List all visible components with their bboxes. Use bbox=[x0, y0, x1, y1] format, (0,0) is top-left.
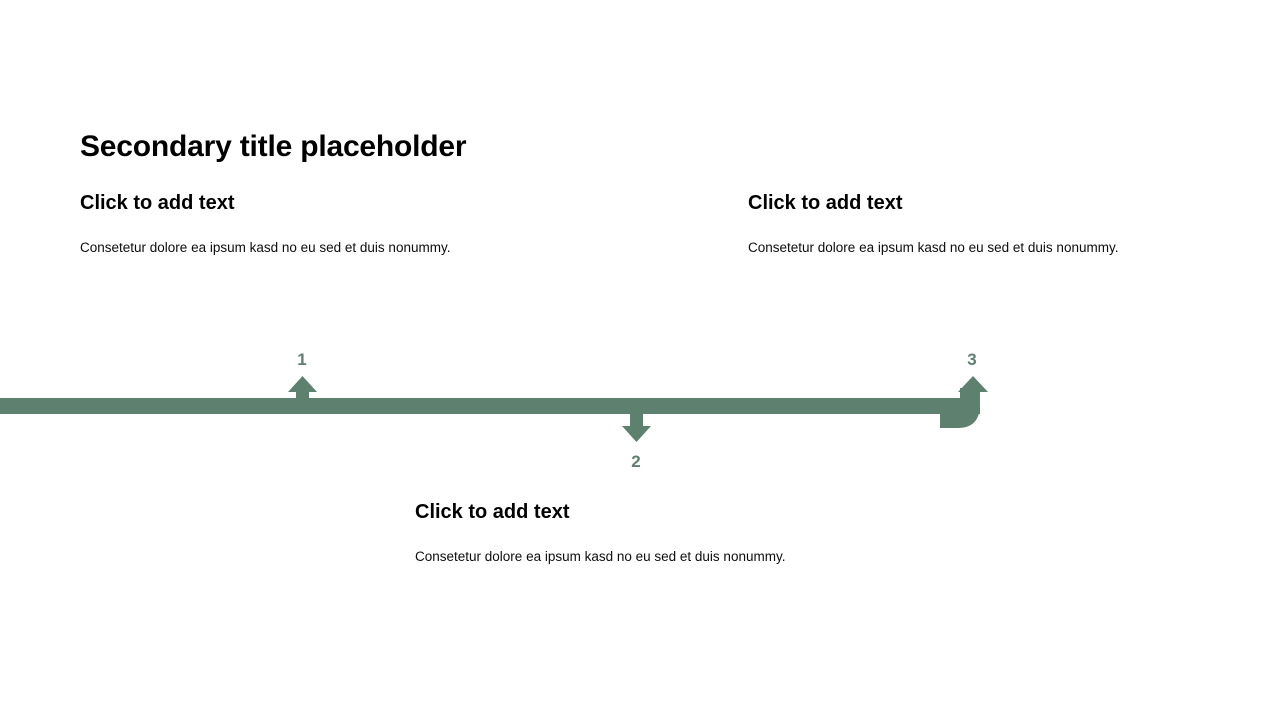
text-block-middle-body[interactable]: Consetetur dolore ea ipsum kasd no eu se… bbox=[415, 547, 785, 567]
step-number-2: 2 bbox=[616, 452, 656, 472]
page-title: Secondary title placeholder bbox=[80, 128, 466, 166]
text-block-left-body[interactable]: Consetetur dolore ea ipsum kasd no eu se… bbox=[80, 238, 450, 258]
text-block-left[interactable]: Click to add text Consetetur dolore ea i… bbox=[80, 190, 450, 258]
text-block-middle-heading[interactable]: Click to add text bbox=[415, 499, 785, 525]
text-block-middle[interactable]: Click to add text Consetetur dolore ea i… bbox=[415, 499, 785, 567]
text-block-right[interactable]: Click to add text Consetetur dolore ea i… bbox=[748, 190, 1118, 258]
text-block-right-heading[interactable]: Click to add text bbox=[748, 190, 1118, 216]
text-block-right-body[interactable]: Consetetur dolore ea ipsum kasd no eu se… bbox=[748, 238, 1118, 258]
step-arrow-2-down-icon bbox=[622, 410, 651, 442]
text-block-left-heading[interactable]: Click to add text bbox=[80, 190, 450, 216]
step-number-1: 1 bbox=[282, 350, 322, 370]
slide-canvas: Secondary title placeholder Click to add… bbox=[0, 0, 1280, 720]
step-number-3: 3 bbox=[952, 350, 992, 370]
timeline-bar bbox=[0, 398, 966, 414]
